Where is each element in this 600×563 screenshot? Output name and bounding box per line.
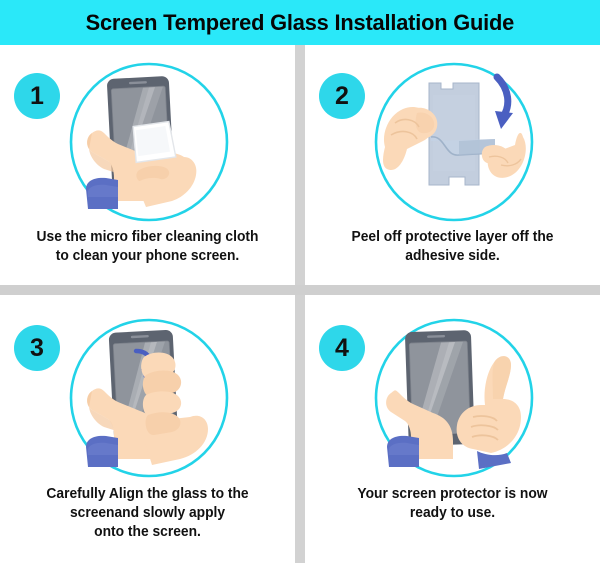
- step-panel-4: 4: [305, 295, 600, 563]
- caption-line: Your screen protector is now: [321, 485, 585, 504]
- illustration-thumbs-up-phone-icon: [373, 317, 535, 479]
- illustration-align-glass-icon: [68, 317, 230, 479]
- step-caption-1: Use the micro fiber cleaning cloth to cl…: [16, 228, 280, 266]
- caption-line: onto the screen.: [16, 523, 280, 542]
- caption-line: Use the micro fiber cleaning cloth: [16, 228, 280, 247]
- header-bar: Screen Tempered Glass Installation Guide: [0, 0, 600, 45]
- step-badge-3: 3: [14, 325, 60, 371]
- step-caption-3: Carefully Align the glass to the screena…: [16, 485, 280, 542]
- illustration-hand-cleaning-phone-icon: [68, 61, 230, 223]
- step-number-4: 4: [335, 336, 349, 361]
- caption-line: adhesive side.: [321, 247, 585, 266]
- installation-guide-poster: Screen Tempered Glass Installation Guide…: [0, 0, 600, 563]
- caption-line: ready to use.: [321, 504, 585, 523]
- step-badge-2: 2: [319, 73, 365, 119]
- illustration-peel-film-icon: [373, 61, 535, 223]
- horizontal-divider: [0, 285, 600, 295]
- caption-line: to clean your phone screen.: [16, 247, 280, 266]
- step-badge-4: 4: [319, 325, 365, 371]
- step-badge-1: 1: [14, 73, 60, 119]
- caption-line: Peel off protective layer off the: [321, 228, 585, 247]
- caption-line: Carefully Align the glass to the: [16, 485, 280, 504]
- step-panel-2: 2: [305, 45, 600, 285]
- step-panel-1: 1: [0, 45, 295, 285]
- step-number-3: 3: [30, 336, 44, 361]
- step-caption-2: Peel off protective layer off the adhesi…: [321, 228, 585, 266]
- caption-line: screenand slowly apply: [16, 504, 280, 523]
- vertical-divider: [295, 45, 305, 563]
- step-panel-3: 3: [0, 295, 295, 563]
- step-number-2: 2: [335, 84, 349, 109]
- page-title: Screen Tempered Glass Installation Guide: [86, 10, 514, 36]
- step-number-1: 1: [30, 84, 44, 109]
- step-caption-4: Your screen protector is now ready to us…: [321, 485, 585, 523]
